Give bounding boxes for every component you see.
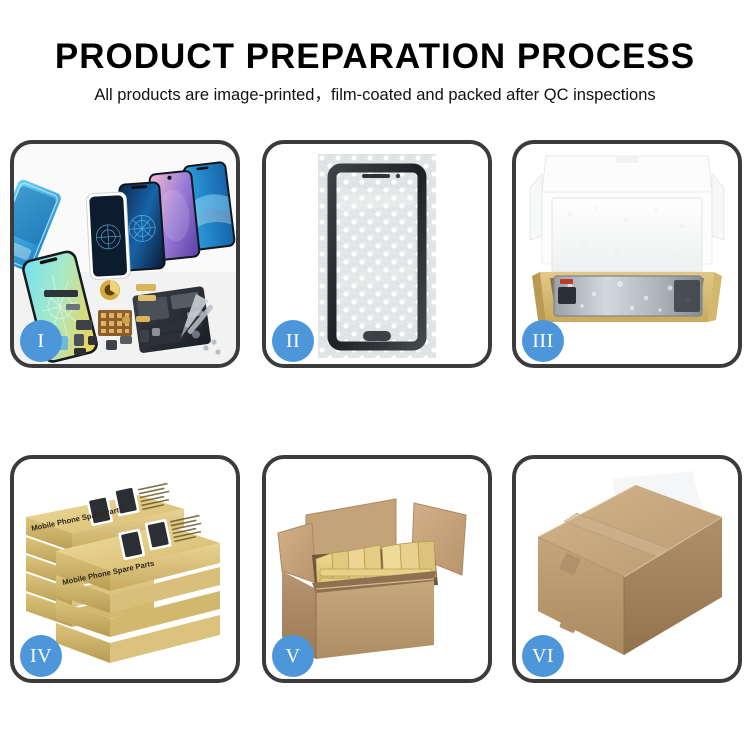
- step-panel-1: I: [10, 140, 240, 368]
- page-subtitle: All products are image-printed，film-coat…: [0, 84, 750, 106]
- screen-assembly: [318, 154, 436, 358]
- step-badge-1: I: [20, 320, 62, 362]
- page-title: PRODUCT PREPARATION PROCESS: [0, 36, 750, 78]
- step-badge-6: VI: [522, 635, 564, 677]
- step-badge-5: V: [272, 635, 314, 677]
- page-header: PRODUCT PREPARATION PROCESS All products…: [0, 0, 750, 130]
- step-badge-2: II: [272, 320, 314, 362]
- step-panel-5: V: [262, 455, 492, 683]
- step-panel-6: VI: [512, 455, 742, 683]
- step-panel-2: II: [262, 140, 492, 368]
- step-panel-4: Mobile Phone Spare Parts Mobile Phone Sp…: [10, 455, 240, 683]
- step-panel-3: III: [512, 140, 742, 368]
- step-badge-3: III: [522, 320, 564, 362]
- step-badge-4: IV: [20, 635, 62, 677]
